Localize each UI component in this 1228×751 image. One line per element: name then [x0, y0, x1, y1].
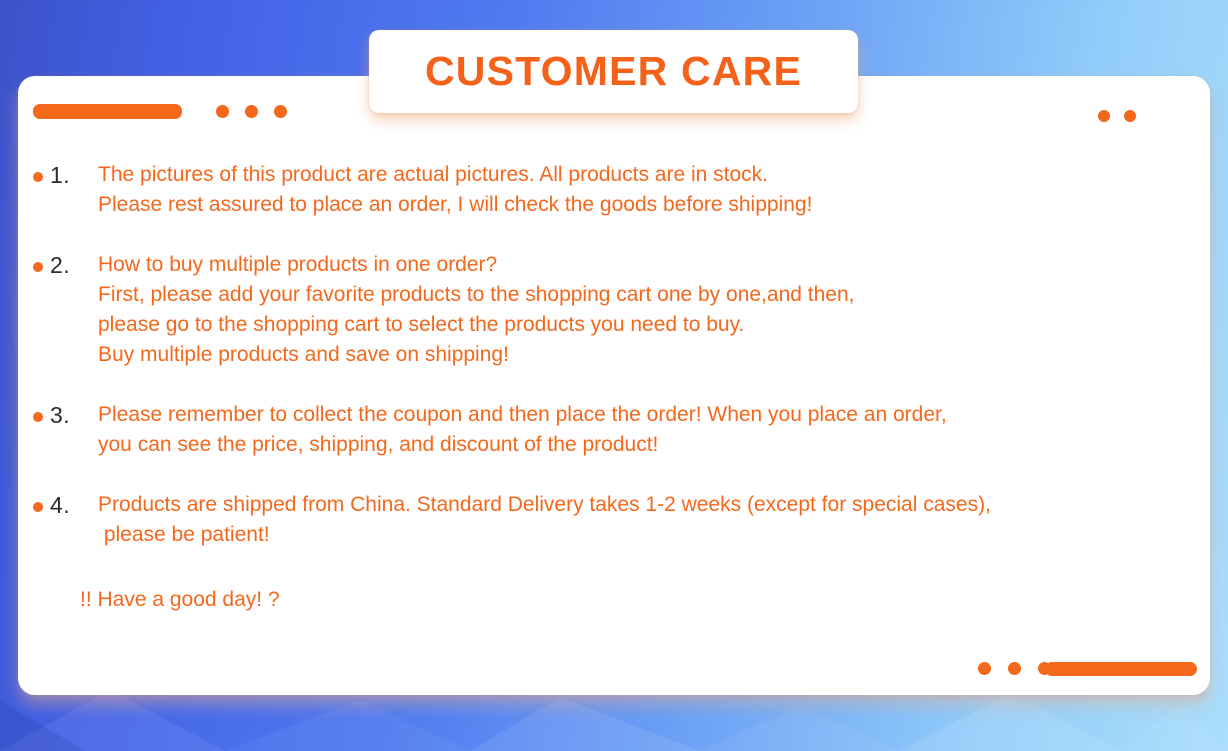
- dots-decoration-top-right: [1098, 110, 1136, 122]
- dot-icon: [1008, 662, 1021, 675]
- list-item: 4. Products are shipped from China. Stan…: [18, 490, 1210, 550]
- list-item-line: you can see the price, shipping, and dis…: [98, 430, 1210, 460]
- list-item-line: Please rest assured to place an order, I…: [98, 190, 1210, 220]
- list-item: 3. Please remember to collect the coupon…: [18, 400, 1210, 460]
- list-item-line: Buy multiple products and save on shippi…: [98, 340, 1210, 370]
- bullet-dot-icon: [33, 502, 43, 512]
- dot-icon: [245, 105, 258, 118]
- bullet-dot-icon: [33, 412, 43, 422]
- bullet-dot-icon: [33, 172, 43, 182]
- dot-icon: [1098, 110, 1110, 122]
- list-item-line: Please remember to collect the coupon an…: [98, 400, 1210, 430]
- title-card: CUSTOMER CARE: [369, 30, 858, 113]
- dots-decoration-top-left: [216, 105, 287, 118]
- dots-decoration-bottom-right: [978, 662, 1051, 675]
- faq-list: 1. The pictures of this product are actu…: [18, 160, 1210, 570]
- list-item-line: please go to the shopping cart to select…: [98, 310, 1210, 340]
- bullet-dot-icon: [33, 262, 43, 272]
- dot-icon: [1124, 110, 1136, 122]
- list-item-line: The pictures of this product are actual …: [98, 160, 1210, 190]
- list-item-line: First, please add your favorite products…: [98, 280, 1210, 310]
- list-item-number: 3.: [50, 400, 70, 430]
- list-item-body: Products are shipped from China. Standar…: [98, 490, 1210, 550]
- list-item-number: 4.: [50, 490, 70, 520]
- list-item: 1. The pictures of this product are actu…: [18, 160, 1210, 220]
- bar-decoration-top-left: [33, 104, 182, 119]
- page-root: CUSTOMER CARE 1. The pictures of this pr…: [0, 0, 1228, 751]
- page-title: CUSTOMER CARE: [425, 51, 802, 92]
- list-item-line: How to buy multiple products in one orde…: [98, 250, 1210, 280]
- dot-icon: [274, 105, 287, 118]
- list-item-body: The pictures of this product are actual …: [98, 160, 1210, 220]
- dot-icon: [978, 662, 991, 675]
- list-item-line: please be patient!: [98, 520, 1210, 550]
- closing-message: !! Have a good day! ?: [80, 585, 280, 615]
- list-item-body: How to buy multiple products in one orde…: [98, 250, 1210, 370]
- list-item: 2. How to buy multiple products in one o…: [18, 250, 1210, 370]
- dot-icon: [216, 105, 229, 118]
- bar-decoration-bottom-right: [1045, 662, 1197, 676]
- list-item-line: Products are shipped from China. Standar…: [98, 490, 1210, 520]
- list-item-number: 1.: [50, 160, 70, 190]
- list-item-body: Please remember to collect the coupon an…: [98, 400, 1210, 460]
- list-item-number: 2.: [50, 250, 70, 280]
